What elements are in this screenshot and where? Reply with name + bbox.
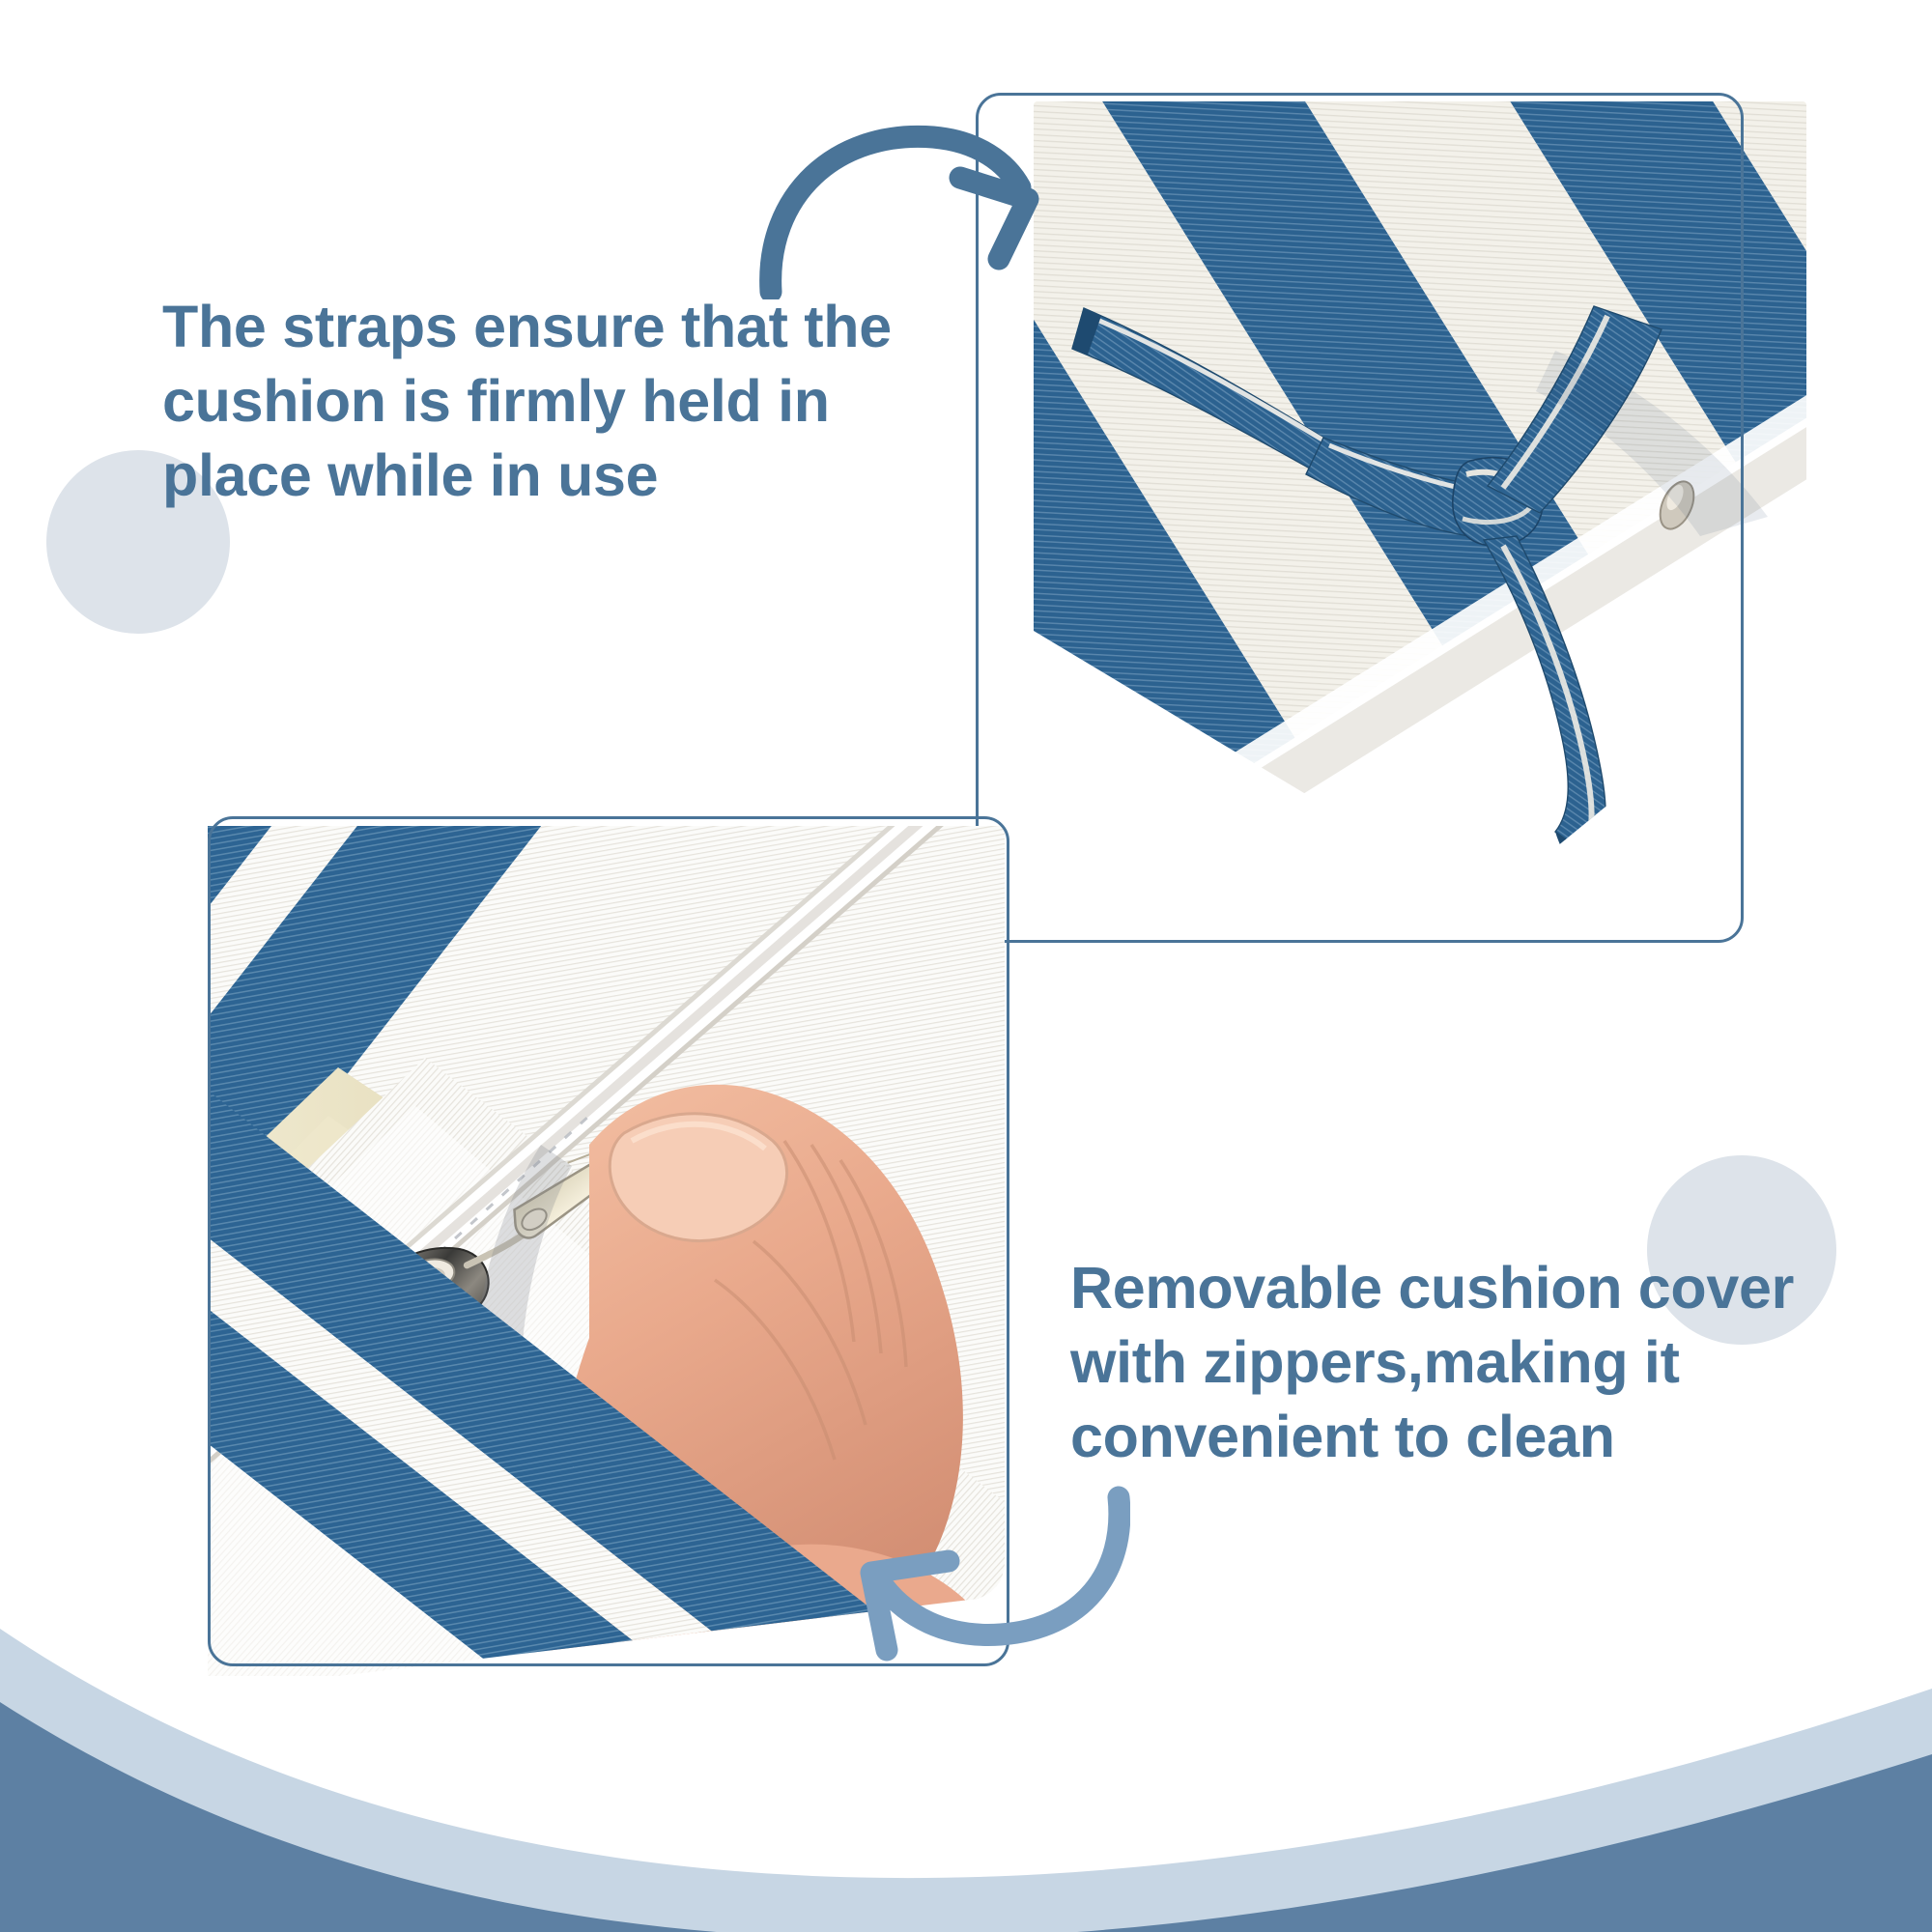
zipper-caption-line-3: convenient to clean xyxy=(1070,1400,1833,1474)
zipper-caption-line-1: Removable cushion cover xyxy=(1070,1251,1833,1325)
zipper-caption-line-2: with zippers,making it xyxy=(1070,1325,1833,1400)
straps-caption: The straps ensure that the cushion is fi… xyxy=(162,290,925,513)
zipper-caption: Removable cushion cover with zippers,mak… xyxy=(1070,1251,1833,1474)
curved-arrow-right-down-icon xyxy=(753,106,1063,299)
straps-caption-line-2: cushion is firmly held in xyxy=(162,364,925,439)
infographic-canvas: The straps ensure that the cushion is fi… xyxy=(0,0,1932,1932)
bottom-wave-band xyxy=(0,1584,1932,1932)
strap-photo-frame xyxy=(976,93,1744,943)
straps-caption-line-3: place while in use xyxy=(162,439,925,513)
straps-caption-line-1: The straps ensure that the xyxy=(162,290,925,364)
